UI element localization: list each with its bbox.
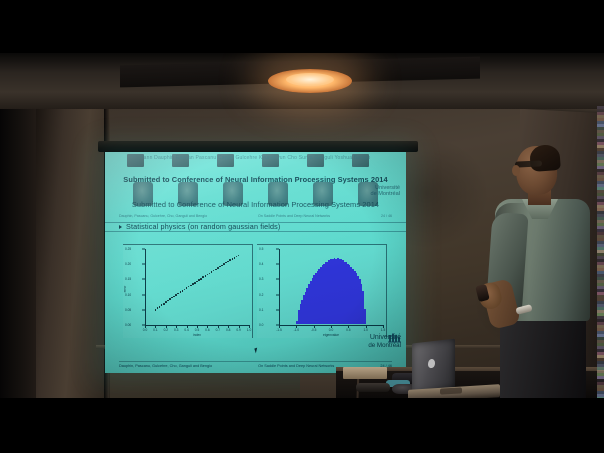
letterbox-bar-bottom xyxy=(0,398,604,453)
lecture-room: Yann Dauphin Razvan Pascanu Caglar Gulce… xyxy=(0,53,604,398)
letterbox-bar-top xyxy=(0,0,604,53)
presenter xyxy=(0,53,604,398)
presenter-trousers xyxy=(500,313,586,398)
video-edge-artifact xyxy=(597,106,604,398)
screenshot-root: Yann Dauphin Razvan Pascanu Caglar Gulce… xyxy=(0,0,604,453)
presenter-ear xyxy=(512,165,520,176)
presenter-hair xyxy=(529,144,561,172)
